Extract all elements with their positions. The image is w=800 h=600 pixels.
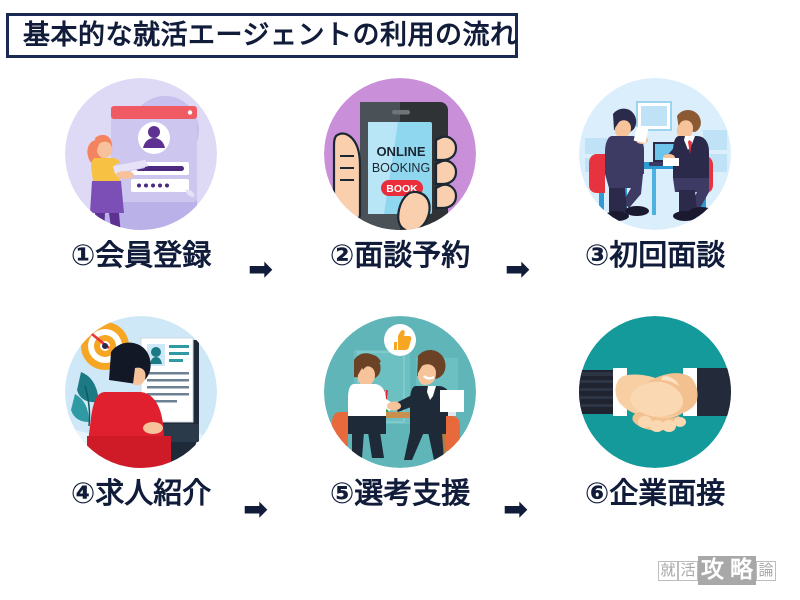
screen-text-booking: BOOKING [372,161,430,175]
watermark-char-4: 略 [727,556,756,585]
job-introduction-illustration [65,316,217,468]
step-label-6: ⑥企業面接 [542,480,768,509]
online-booking-illustration: ONLINE BOOKING BOOK [324,78,476,230]
step-label-5: ⑤選考支援 [287,480,513,509]
watermark-char-2: 活 [678,561,698,581]
page-title: 基本的な就活エージェントの利用の流れ [23,22,517,49]
flow-arrow-2: ➡ [505,255,530,285]
step-card-5[interactable]: ⑤選考支援 [287,316,513,541]
step-card-4[interactable]: ④求人紹介 [28,316,254,541]
watermark-char-5: 論 [756,561,776,581]
steps-row-2: ④求人紹介 [0,316,800,541]
watermark-char-3: 攻 [698,556,727,585]
step-card-2[interactable]: ONLINE BOOKING BOOK ②面談予約 [287,78,513,303]
flow-arrow-4: ➡ [503,495,528,525]
member-registration-illustration [65,78,217,230]
step-card-3[interactable]: ③初回面談 [542,78,768,303]
site-watermark: 就 活 攻 略 論 [658,556,776,585]
watermark-char-1: 就 [658,561,678,581]
step-card-1[interactable]: ①会員登録 [28,78,254,303]
step-label-3: ③初回面談 [542,242,768,271]
page-title-box: 基本的な就活エージェントの利用の流れ [6,13,518,58]
step-label-4: ④求人紹介 [28,480,254,509]
selection-support-illustration [324,316,476,468]
step-card-6[interactable]: ⑥企業面接 [542,316,768,541]
step-label-1: ①会員登録 [28,242,254,271]
flow-arrow-1: ➡ [248,255,273,285]
steps-row-1: ①会員登録 ONLINE BOOKING BOOK [0,78,800,303]
flow-arrow-3: ➡ [243,495,268,525]
screen-text-online: ONLINE [376,144,425,159]
first-interview-illustration [579,78,731,230]
infographic-page: 基本的な就活エージェントの利用の流れ [0,0,800,600]
company-interview-illustration [579,316,731,468]
step-label-2: ②面談予約 [287,242,513,271]
